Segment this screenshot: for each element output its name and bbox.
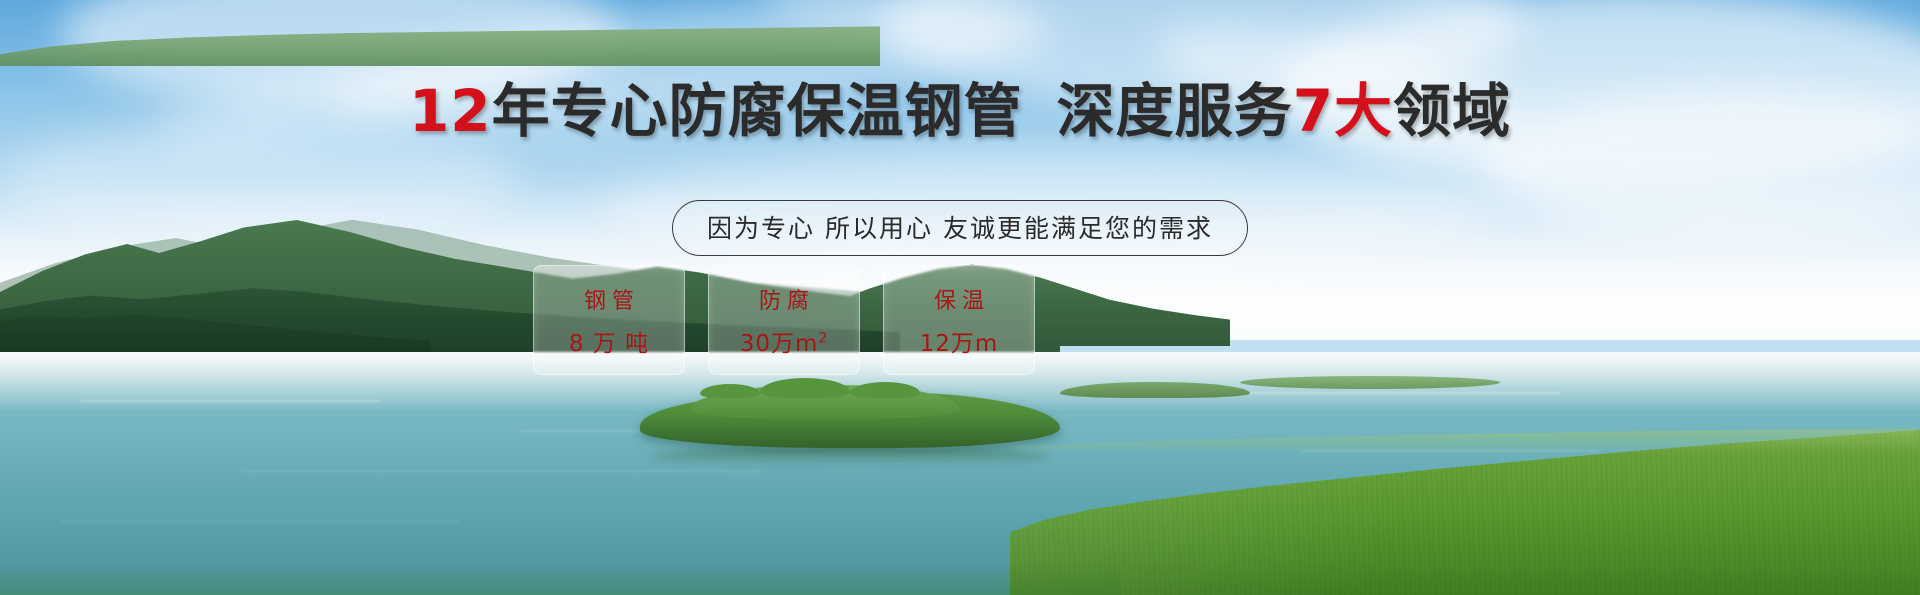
headline-years-number: 12 [409,77,492,145]
stat-card-value-main: 30万m [740,331,819,357]
stat-card-value-main: 8 万 吨 [569,331,649,357]
stat-card-value: 8 万 吨 [569,324,649,358]
headline-main-text: 年专心防腐保温钢管 [492,77,1023,145]
shoreline-shadow [0,560,1120,595]
water-ripple [80,400,380,402]
headline-service-lead: 深度服务 [1057,77,1293,145]
stat-card-label: 保温 [928,283,990,315]
hero-banner: 12年专心防腐保温钢管深度服务7大领域 因为专心 所以用心 友诚更能满足您的需求… [0,0,1920,595]
stat-card-list: 钢管 8 万 吨 防腐 30万m2 保温 12万m [533,265,1035,375]
stat-card-value-superscript: 2 [818,330,828,346]
stat-card-anticorrosion[interactable]: 防腐 30万m2 [708,265,860,375]
stat-card-label: 钢管 [578,283,640,315]
grass-tuft [700,384,760,398]
island-reflection [650,446,1050,468]
stat-card-insulation[interactable]: 保温 12万m [883,265,1035,375]
water-ripple [240,470,760,472]
banner-headline: 12年专心防腐保温钢管深度服务7大领域 [0,82,1920,140]
grass-tuft [850,382,920,398]
stat-card-value: 12万m [920,324,999,358]
banner-subtitle: 因为专心 所以用心 友诚更能满足您的需求 [672,200,1248,256]
water-ripple [60,520,460,522]
stat-card-value: 30万m2 [740,324,829,358]
stat-card-label: 防腐 [753,283,815,315]
small-islet [1060,382,1250,398]
banner-subtitle-wrap: 因为专心 所以用心 友诚更能满足您的需求 [0,200,1920,256]
headline-fields-number: 7大 [1293,77,1393,145]
small-islet [1240,376,1500,389]
stat-card-value-main: 12万m [920,331,999,357]
stat-card-steel-pipe[interactable]: 钢管 8 万 吨 [533,265,685,375]
headline-fields-text: 领域 [1393,77,1511,145]
